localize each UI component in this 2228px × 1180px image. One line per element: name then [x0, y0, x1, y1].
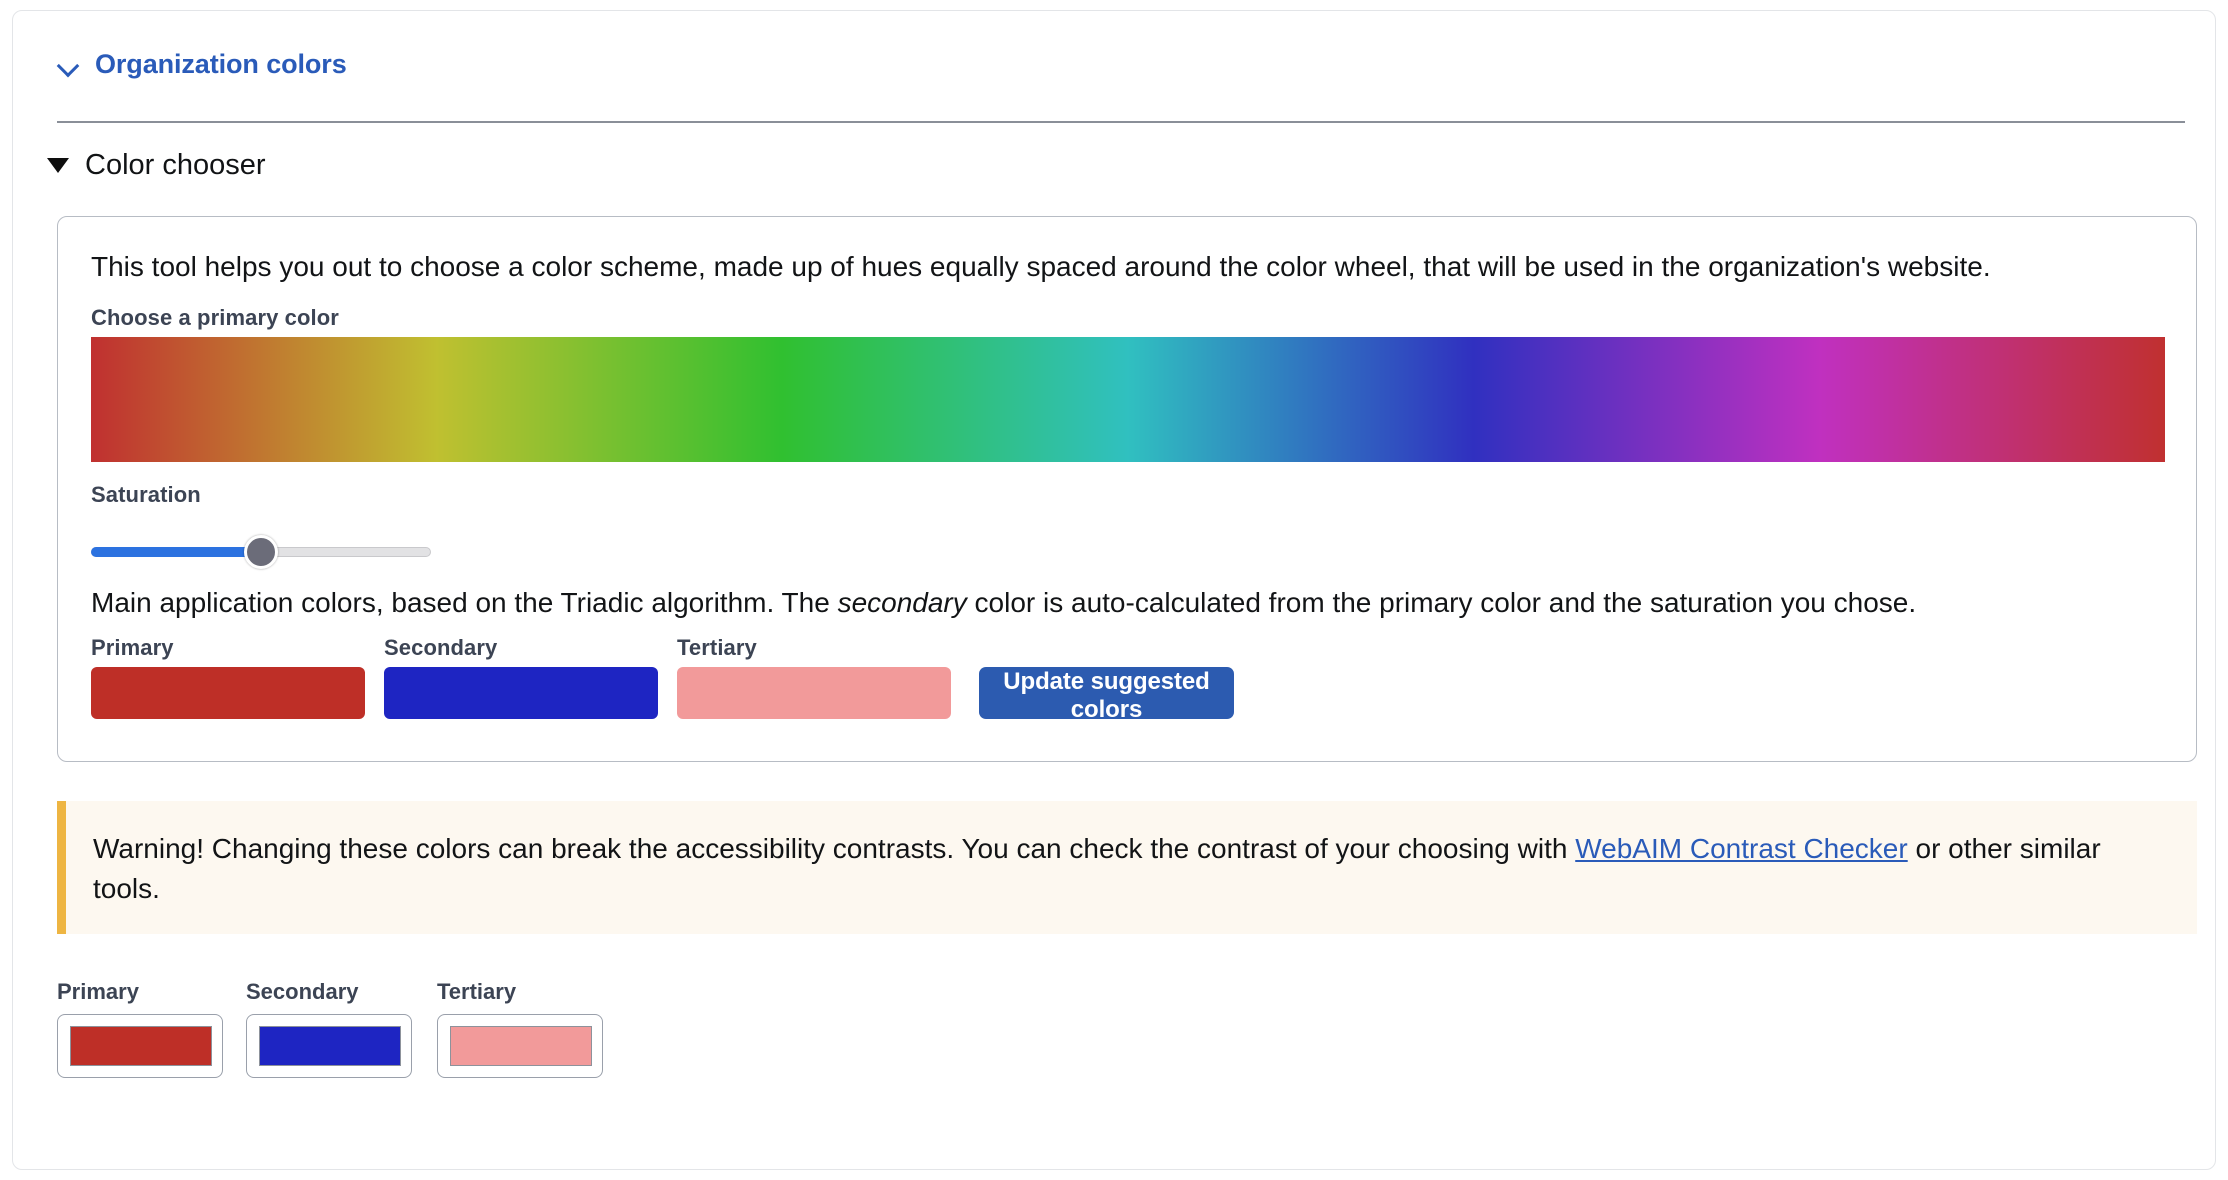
- color-input-label-secondary: Secondary: [246, 979, 359, 1005]
- color-input-tertiary[interactable]: [437, 1014, 603, 1078]
- update-suggested-colors-button[interactable]: Update suggested colors: [979, 667, 1234, 719]
- swatch-label-primary: Primary: [91, 635, 174, 661]
- color-input-primary[interactable]: [57, 1014, 223, 1078]
- hue-picker-label: Choose a primary color: [91, 305, 339, 331]
- header-divider: [57, 121, 2185, 123]
- swatch-label-secondary: Secondary: [384, 635, 497, 661]
- accessibility-warning-banner: Warning! Changing these colors can break…: [57, 801, 2197, 934]
- swatch-label-tertiary: Tertiary: [677, 635, 757, 661]
- saturation-slider[interactable]: [91, 535, 431, 569]
- page-title: Organization colors: [95, 49, 347, 80]
- warning-text-before: Warning! Changing these colors can break…: [93, 833, 1575, 864]
- intro-description: This tool helps you out to choose a colo…: [91, 251, 1991, 283]
- slider-fill: [91, 547, 261, 557]
- swatch-primary[interactable]: [91, 667, 365, 719]
- triangle-down-icon: [47, 158, 69, 173]
- color-input-label-tertiary: Tertiary: [437, 979, 516, 1005]
- subsection-toggle-color-chooser[interactable]: Color chooser: [47, 149, 266, 182]
- main-colors-description: Main application colors, based on the Tr…: [91, 587, 1916, 619]
- organization-colors-panel: Organization colors Color chooser This t…: [12, 10, 2216, 1170]
- main-colors-text-emphasis: secondary: [838, 587, 967, 618]
- color-input-label-primary: Primary: [57, 979, 139, 1005]
- warning-message: Warning! Changing these colors can break…: [93, 829, 2153, 909]
- color-input-preview-secondary: [259, 1026, 401, 1066]
- accordion-header-organization-colors[interactable]: Organization colors: [57, 49, 347, 80]
- suggested-swatch-row: Primary Secondary Tertiary Update sugges…: [91, 635, 2165, 735]
- color-input-row: Primary Secondary Tertiary: [57, 979, 2197, 1109]
- swatch-tertiary[interactable]: [677, 667, 951, 719]
- color-input-secondary[interactable]: [246, 1014, 412, 1078]
- page-root: Organization colors Color chooser This t…: [0, 0, 2228, 1180]
- slider-thumb[interactable]: [244, 535, 278, 569]
- color-input-preview-primary: [70, 1026, 212, 1066]
- swatch-secondary[interactable]: [384, 667, 658, 719]
- saturation-label: Saturation: [91, 482, 201, 508]
- chevron-down-icon: [57, 53, 81, 77]
- main-colors-text-before: Main application colors, based on the Tr…: [91, 587, 838, 618]
- color-chooser-card: This tool helps you out to choose a colo…: [57, 216, 2197, 762]
- webaim-contrast-checker-link[interactable]: WebAIM Contrast Checker: [1575, 833, 1908, 864]
- subsection-title: Color chooser: [85, 149, 266, 182]
- color-input-preview-tertiary: [450, 1026, 592, 1066]
- main-colors-text-after: color is auto-calculated from the primar…: [967, 587, 1916, 618]
- hue-gradient-picker[interactable]: [91, 337, 2165, 462]
